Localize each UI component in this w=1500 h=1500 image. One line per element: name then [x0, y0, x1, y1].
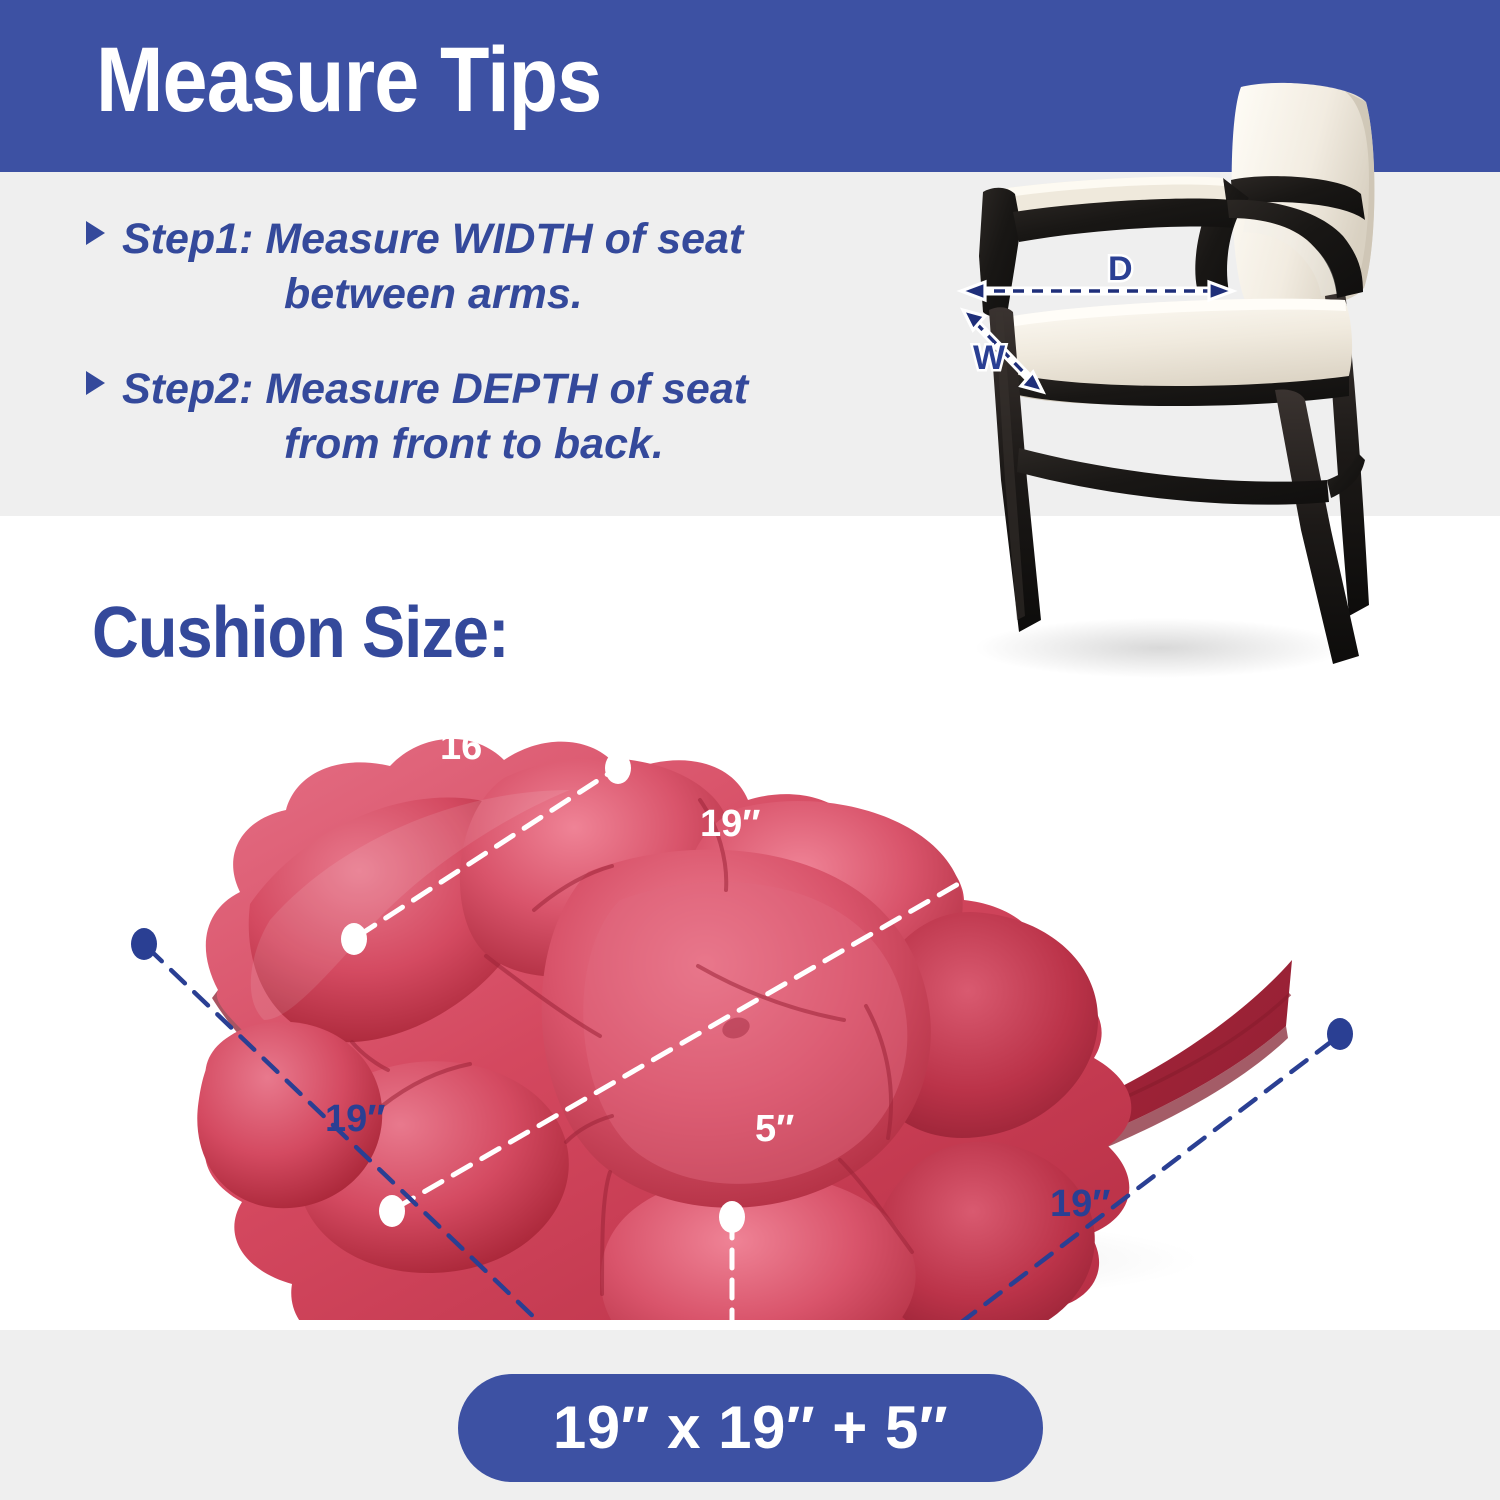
- triangle-right-icon: [86, 371, 105, 395]
- measurement-label-19-top: 19″: [700, 805, 760, 843]
- chair-drawing: [945, 60, 1415, 690]
- page-title: Measure Tips: [96, 34, 601, 126]
- step-1-line-1: Step1: Measure WIDTH of seat: [86, 212, 876, 267]
- infographic-page: Measure Tips Step1: Measure WIDTH of sea…: [0, 0, 1500, 1500]
- chair-illustration: D W: [945, 60, 1415, 690]
- step-2-line-2: from front to back.: [86, 417, 876, 472]
- step-item-2: Step2: Measure DEPTH of seat from front …: [86, 362, 876, 472]
- measurement-label-19-left: 19″: [325, 1100, 385, 1138]
- measurement-label-5: 5″: [755, 1110, 794, 1148]
- measurement-label-19-right: 19″: [1050, 1185, 1110, 1223]
- step-1-line-2: between arms.: [86, 267, 876, 322]
- triangle-right-icon: [86, 221, 105, 245]
- dimension-label-depth: D: [1108, 252, 1133, 286]
- dimension-label-width: W: [973, 341, 1005, 375]
- measurement-label-16: 16″: [440, 728, 500, 766]
- cushion-drawing: [100, 660, 1420, 1320]
- cushion-illustration: 16″ 19″ 5″ 19″ 19″: [100, 660, 1420, 1320]
- size-summary-text: 19″ x 19″ + 5″: [553, 1398, 948, 1458]
- size-summary-badge: 19″ x 19″ + 5″: [458, 1374, 1043, 1482]
- steps-list: Step1: Measure WIDTH of seat between arm…: [86, 212, 876, 512]
- step-2-line-1: Step2: Measure DEPTH of seat: [86, 362, 876, 417]
- step-item-1: Step1: Measure WIDTH of seat between arm…: [86, 212, 876, 322]
